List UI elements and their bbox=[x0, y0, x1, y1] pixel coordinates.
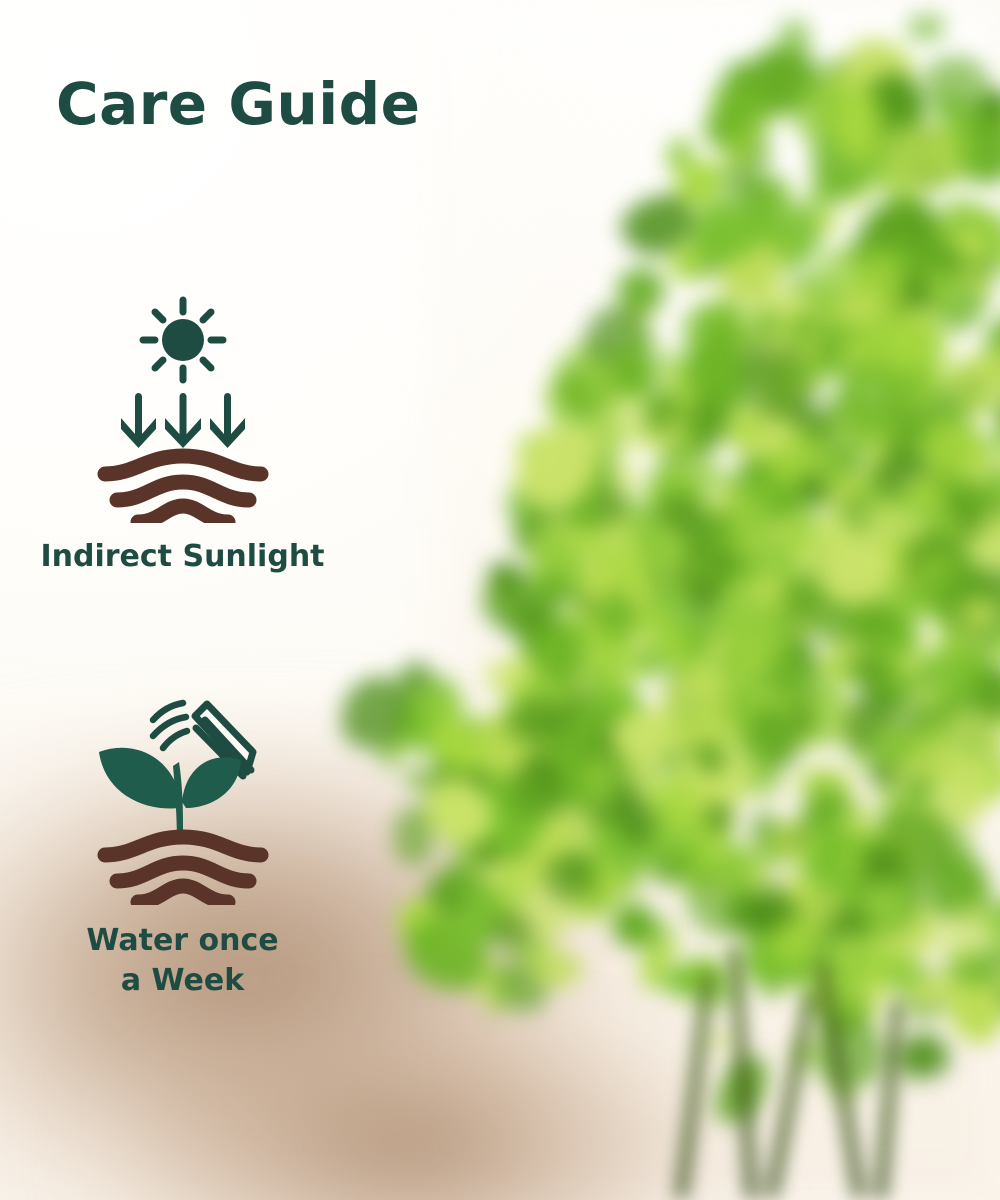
page-title: Care Guide bbox=[56, 70, 420, 138]
sprout-leaves-icon bbox=[99, 748, 241, 842]
care-item-label: Water once a Week bbox=[0, 921, 365, 1000]
care-guide-content: Care Guide bbox=[0, 0, 1000, 1200]
sun-icon bbox=[143, 300, 223, 380]
care-item-label: Indirect Sunlight bbox=[0, 537, 365, 577]
down-arrow-icon bbox=[210, 393, 245, 448]
care-item-label-line-2: a Week bbox=[0, 961, 365, 1001]
down-arrow-icon bbox=[121, 393, 156, 448]
care-item-water-once-a-week: Water once a Week bbox=[0, 690, 365, 1000]
sprout-watering-soil-icon bbox=[0, 690, 365, 905]
care-item-label-line-1: Water once bbox=[0, 921, 365, 961]
spray-lines-icon bbox=[153, 703, 187, 748]
care-item-indirect-sunlight: Indirect Sunlight bbox=[0, 288, 365, 577]
sun-arrows-soil-icon bbox=[0, 288, 365, 523]
soil-waves-icon bbox=[105, 456, 261, 522]
down-arrow-icon bbox=[165, 393, 201, 448]
soil-waves-icon bbox=[105, 837, 261, 902]
care-guide-page: Care Guide bbox=[0, 0, 1000, 1200]
